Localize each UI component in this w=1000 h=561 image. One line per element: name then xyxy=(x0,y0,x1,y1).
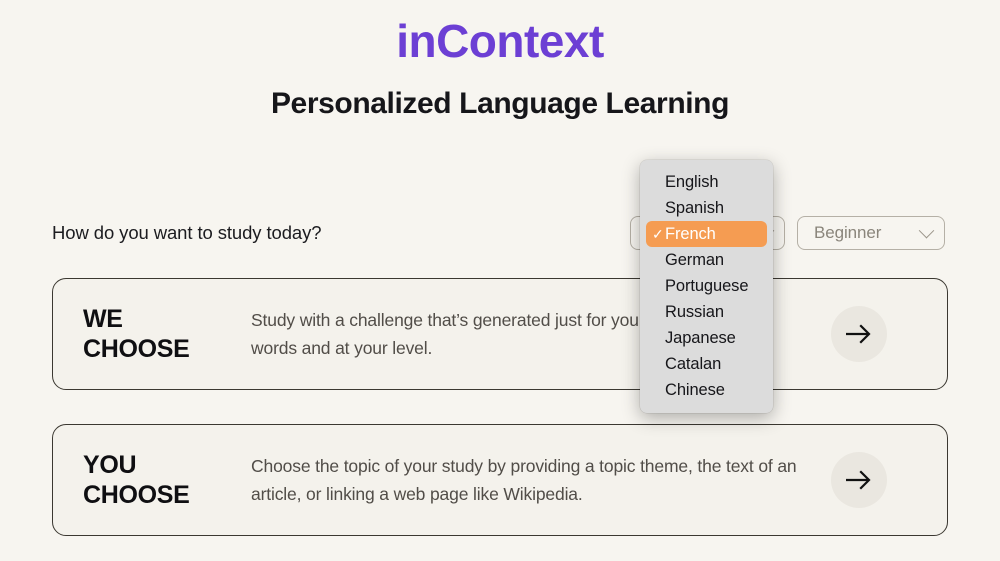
dropdown-item-label: Chinese xyxy=(665,381,725,400)
app-tagline: Personalized Language Learning xyxy=(0,87,1000,121)
dropdown-item-label: German xyxy=(665,251,724,270)
card-title-line-2: CHOOSE xyxy=(83,480,251,511)
dropdown-item-label: Russian xyxy=(665,303,724,322)
card-go-button[interactable] xyxy=(831,452,887,508)
dropdown-item-spanish[interactable]: ✓Spanish xyxy=(640,195,773,221)
card-description: Choose the topic of your study by provid… xyxy=(251,452,831,509)
arrow-right-icon xyxy=(844,470,874,490)
language-dropdown-menu[interactable]: ✓English✓Spanish✓French✓German✓Portugues… xyxy=(640,160,773,413)
dropdown-item-label: Japanese xyxy=(665,329,736,348)
dropdown-item-japanese[interactable]: ✓Japanese xyxy=(640,325,773,351)
dropdown-item-russian[interactable]: ✓Russian xyxy=(640,299,773,325)
card-title-line-1: YOU xyxy=(83,450,251,481)
check-icon: ✓ xyxy=(652,227,664,241)
dropdown-item-label: English xyxy=(665,173,718,192)
chevron-down-icon xyxy=(919,222,935,238)
study-prompt-label: How do you want to study today? xyxy=(52,222,321,244)
dropdown-item-portuguese[interactable]: ✓Portuguese xyxy=(640,273,773,299)
level-select[interactable]: Beginner xyxy=(797,216,945,250)
study-mode-card-you-choose[interactable]: YOU CHOOSE Choose the topic of your stud… xyxy=(52,424,948,536)
app-brand-title: inContext xyxy=(0,0,1000,67)
dropdown-item-label: French xyxy=(665,225,716,244)
dropdown-item-english[interactable]: ✓English xyxy=(640,169,773,195)
study-mode-card-we-choose[interactable]: WE CHOOSE Study with a challenge that’s … xyxy=(52,278,948,390)
card-title-line-2: CHOOSE xyxy=(83,334,251,365)
card-title: WE CHOOSE xyxy=(83,304,251,365)
card-title-line-1: WE xyxy=(83,304,251,335)
dropdown-item-german[interactable]: ✓German xyxy=(640,247,773,273)
arrow-right-icon xyxy=(844,324,874,344)
card-title: YOU CHOOSE xyxy=(83,450,251,511)
card-go-button[interactable] xyxy=(831,306,887,362)
dropdown-item-label: Spanish xyxy=(665,199,724,218)
dropdown-item-french[interactable]: ✓French xyxy=(646,221,767,247)
dropdown-item-catalan[interactable]: ✓Catalan xyxy=(640,351,773,377)
dropdown-item-chinese[interactable]: ✓Chinese xyxy=(640,377,773,403)
dropdown-item-label: Catalan xyxy=(665,355,721,374)
study-options-row: How do you want to study today? French B… xyxy=(0,210,1000,256)
dropdown-item-label: Portuguese xyxy=(665,277,748,296)
level-select-value: Beginner xyxy=(814,223,881,243)
